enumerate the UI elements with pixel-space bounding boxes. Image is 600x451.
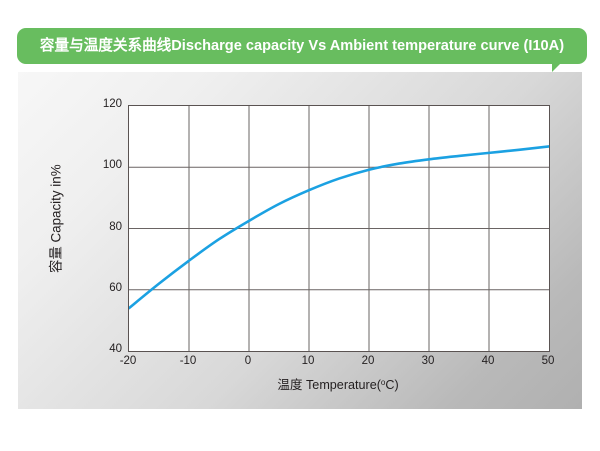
y-tick-label: 80 [82, 222, 122, 234]
y-tick-label: 60 [82, 283, 122, 295]
x-tick-label: 30 [408, 356, 448, 368]
y-axis-title: 容量 Capacity in% [49, 119, 62, 319]
y-tick-label: 40 [82, 344, 122, 356]
x-tick-label: -20 [108, 356, 148, 368]
x-tick-label: 0 [228, 356, 268, 368]
x-tick-label: -10 [168, 356, 208, 368]
chart-title-text: 容量与温度关系曲线Discharge capacity Vs Ambient t… [34, 39, 570, 54]
discharge-capacity-curve [129, 146, 549, 308]
degree-symbol: o [381, 378, 385, 387]
y-axis-ticks: 406080100120 [76, 105, 122, 350]
x-axis-ticks: -20-1001020304050 [128, 356, 548, 374]
chart-title-banner: 容量与温度关系曲线Discharge capacity Vs Ambient t… [17, 28, 587, 64]
x-axis-title: 温度 Temperature(oC) [128, 379, 548, 392]
y-tick-label: 100 [82, 160, 122, 172]
plot-area [128, 105, 550, 352]
banner-tail-icon [552, 63, 561, 72]
y-tick-label: 120 [82, 99, 122, 111]
x-tick-label: 20 [348, 356, 388, 368]
chart-panel: 容量 Capacity in% 406080100120 -20-1001020… [18, 72, 582, 409]
x-tick-label: 40 [468, 356, 508, 368]
plot-canvas [129, 106, 549, 351]
x-tick-label: 50 [528, 356, 568, 368]
x-tick-label: 10 [288, 356, 328, 368]
y-gridlines [129, 167, 549, 290]
